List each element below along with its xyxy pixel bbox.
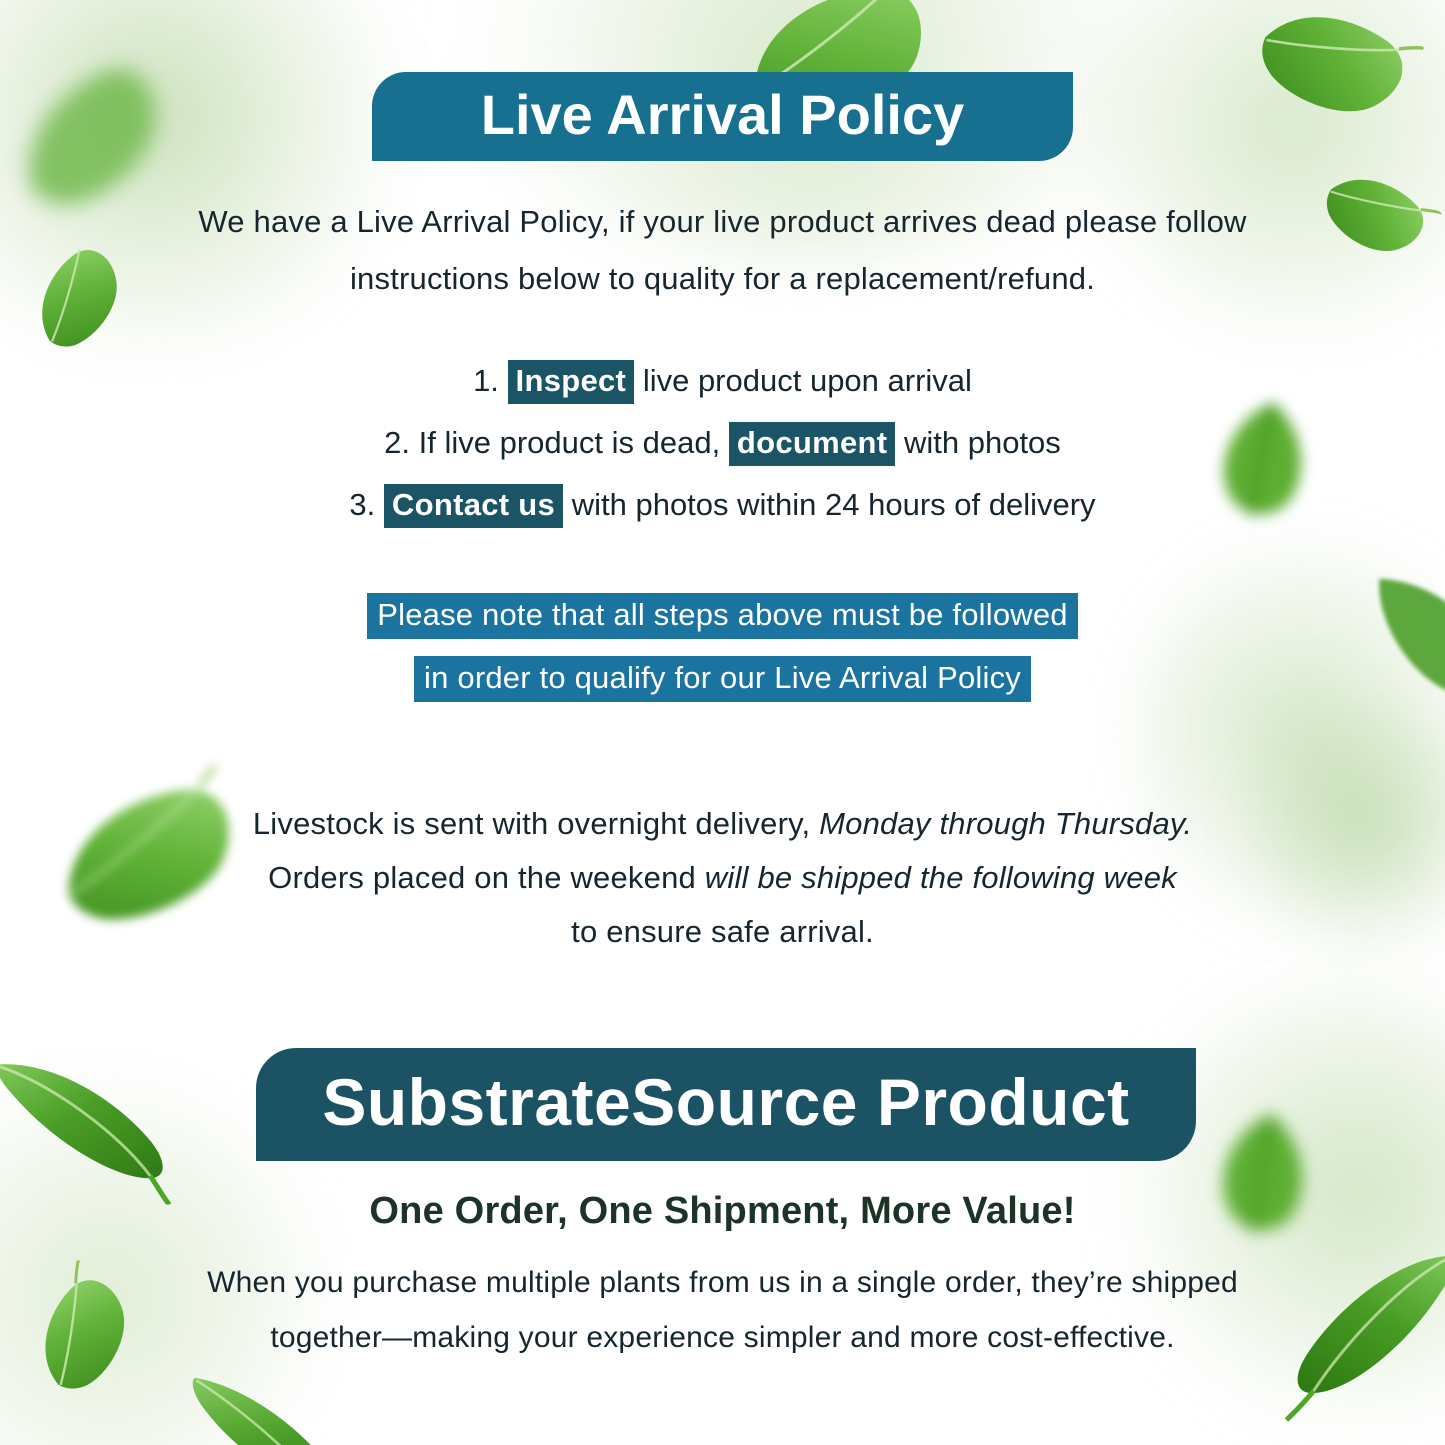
leaf-bottom-left-long-icon <box>0 1048 200 1205</box>
step-2-after: with photos <box>904 425 1061 460</box>
shipping-line-2-italic: will be shipped the following week <box>705 860 1177 895</box>
intro-paragraph: We have a Live Arrival Policy, if your l… <box>150 193 1295 307</box>
step-1-after: live product upon arrival <box>643 363 972 398</box>
policy-note-block: Please note that all steps above must be… <box>120 583 1325 709</box>
policy-note-line-1-wrap: Please note that all steps above must be… <box>120 583 1325 646</box>
step-1-number: 1. <box>473 363 499 398</box>
step-1-highlight: Inspect <box>508 360 635 404</box>
value-headline: One Order, One Shipment, More Value! <box>170 1190 1275 1233</box>
step-item-1: 1. Inspect live product upon arrival <box>120 350 1325 412</box>
step-2-before: If live product is dead, <box>419 425 721 460</box>
step-3-number: 3. <box>349 487 375 522</box>
step-3-after: with photos within 24 hours of delivery <box>572 487 1096 522</box>
shipping-line-1-italic: Monday through Thursday. <box>819 806 1192 841</box>
policy-note-line-2: in order to qualify for our Live Arrival… <box>414 656 1031 702</box>
shipping-line-1-plain: Livestock is sent with overnight deliver… <box>253 806 810 841</box>
leaf-bottom-center-icon <box>171 1365 364 1445</box>
substratesource-product-banner: SubstrateSource Product <box>256 1048 1196 1161</box>
value-paragraph: When you purchase multiple plants from u… <box>170 1255 1275 1365</box>
shipping-schedule-paragraph: Livestock is sent with overnight deliver… <box>170 797 1275 959</box>
step-2-highlight: document <box>729 422 896 466</box>
leaf-upper-right-small-icon <box>1308 151 1443 278</box>
live-arrival-policy-title: Live Arrival Policy <box>481 82 965 152</box>
step-item-2: 2. If live product is dead, document wit… <box>120 412 1325 474</box>
live-arrival-policy-banner: Live Arrival Policy <box>372 72 1073 161</box>
shipping-line-3-plain: to ensure safe arrival. <box>571 914 874 949</box>
policy-graphic: Live Arrival Policy We have a Live Arriv… <box>0 0 1445 1445</box>
steps-list: 1. Inspect live product upon arrival 2. … <box>120 350 1325 536</box>
shipping-line-2-plain: Orders placed on the weekend <box>268 860 696 895</box>
policy-note-line-1: Please note that all steps above must be… <box>367 593 1078 639</box>
leaf-right-edge-icon <box>1368 552 1445 719</box>
shipping-line-2: Orders placed on the weekend will be shi… <box>170 851 1275 905</box>
step-2-number: 2. <box>384 425 410 460</box>
step-3-highlight: Contact us <box>384 484 563 528</box>
shipping-line-3: to ensure safe arrival. <box>170 905 1275 959</box>
leaf-left-small-icon <box>11 229 144 366</box>
substratesource-product-title: SubstrateSource Product <box>322 1064 1129 1146</box>
leaf-top-right-icon <box>1240 0 1425 143</box>
step-item-3: 3. Contact us with photos within 24 hour… <box>120 474 1325 536</box>
leaf-bottom-left-small-icon <box>13 1259 152 1409</box>
leaf-bottom-right-long-icon <box>1262 1245 1445 1425</box>
shipping-line-1: Livestock is sent with overnight deliver… <box>170 797 1275 851</box>
policy-note-line-2-wrap: in order to qualify for our Live Arrival… <box>120 646 1325 709</box>
